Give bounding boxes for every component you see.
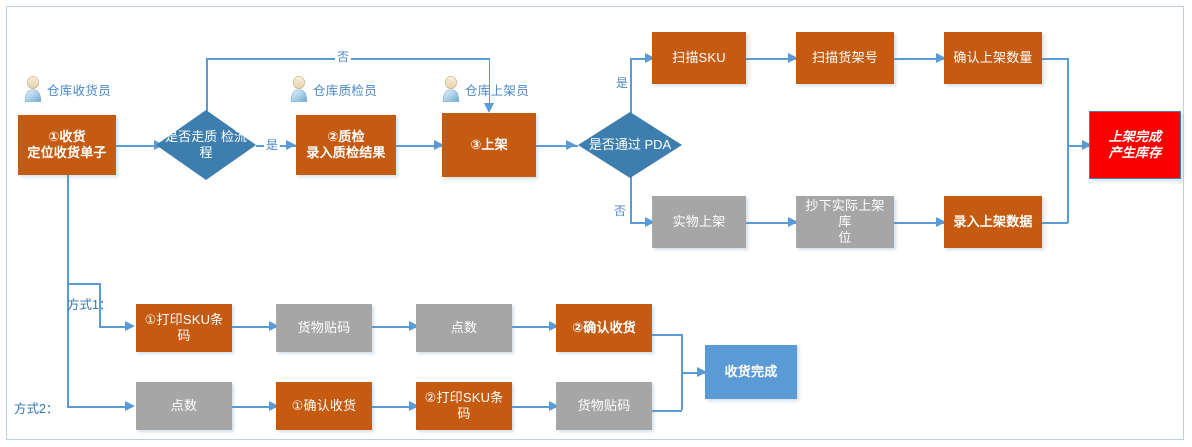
actor-warehouse-shelver: 仓库上架员 (440, 76, 529, 102)
node-copy-location[interactable]: 抄下实际上架库 位 (796, 196, 894, 248)
node-m1-print-sku-label: ①打印SKU条码 (141, 312, 227, 345)
node-scan-sku-label: 扫描SKU (672, 50, 726, 66)
arrowhead (566, 140, 576, 150)
actor-label: 仓库质检员 (313, 80, 377, 99)
node-m1-label-text: 货物贴码 (298, 320, 351, 336)
node-scan-shelf-label: 扫描货架号 (812, 50, 878, 66)
person-icon (22, 76, 44, 102)
edge-label-no-qc: 否 (335, 48, 351, 65)
arrowhead (125, 401, 135, 411)
lane-label-method1: 方式1： (67, 294, 111, 313)
person-icon (440, 76, 462, 102)
node-qc-line1: ②质检 (306, 129, 385, 145)
node-pda-decision-line2: PDA (644, 137, 671, 152)
edge-no-qc-vertical-left (206, 58, 208, 118)
node-m2-print-sku-label: ②打印SKU条码 (421, 390, 507, 423)
arrowhead (286, 140, 296, 150)
edge-m1confirm-to-merge (652, 334, 682, 336)
node-scan-sku[interactable]: 扫描SKU (652, 32, 746, 84)
node-m2-confirm[interactable]: ①确认收货 (276, 382, 372, 430)
node-qc[interactable]: ②质检 录入质检结果 (296, 115, 396, 175)
edge-receive-trunk-vertical (67, 175, 69, 407)
edge-method2-horizontal (67, 406, 132, 408)
node-m2-label[interactable]: 货物贴码 (556, 382, 652, 430)
node-qc-decision[interactable]: 是否走质 检流程 (156, 110, 256, 180)
arrowhead (484, 103, 494, 113)
node-m2-confirm-label: ①确认收货 (292, 398, 357, 414)
node-done-stock-line1: 上架完成 (1109, 129, 1162, 145)
edge-label-yes-qc: 是 (264, 136, 280, 153)
node-enter-data[interactable]: 录入上架数据 (944, 196, 1042, 248)
actor-label: 仓库收货员 (47, 80, 111, 99)
node-m2-label-text: 货物贴码 (578, 398, 631, 414)
node-copy-location-line1: 抄下实际上架库 (801, 198, 889, 231)
node-m1-count-label: 点数 (451, 320, 477, 336)
node-m2-count[interactable]: 点数 (136, 382, 232, 430)
edge-method1-horizontal-a (67, 283, 100, 285)
node-m1-print-sku[interactable]: ①打印SKU条码 (136, 304, 232, 352)
edge-enterdata-to-join (1042, 222, 1068, 224)
person-icon (288, 76, 310, 102)
node-putaway[interactable]: ③上架 (442, 113, 536, 177)
actor-warehouse-inspector: 仓库质检员 (288, 76, 377, 102)
edge-receive-to-qcdecision (116, 145, 156, 147)
node-m1-confirm[interactable]: ②确认收货 (556, 304, 652, 352)
actor-warehouse-receiver: 仓库收货员 (22, 76, 111, 102)
node-physical-putaway[interactable]: 实物上架 (652, 196, 746, 248)
node-copy-location-line2: 位 (801, 230, 889, 246)
node-pda-decision-line1: 是否通过 (589, 137, 641, 152)
node-putaway-label: ③上架 (470, 137, 508, 153)
lane-label-method2: 方式2： (14, 398, 58, 417)
node-m1-count[interactable]: 点数 (416, 304, 512, 352)
node-receive[interactable]: ①收货 定位收货单子 (18, 115, 116, 175)
node-receive-done-label: 收货完成 (725, 364, 778, 380)
node-qc-decision-line1: 是否走质 (165, 129, 217, 144)
node-receive-line2: 定位收货单子 (27, 145, 106, 161)
node-pda-decision[interactable]: 是否通过 PDA (578, 112, 682, 178)
edge-yes-pda-vertical (630, 58, 632, 120)
node-physical-putaway-label: 实物上架 (673, 214, 726, 230)
node-qc-line2: 录入质检结果 (306, 145, 385, 161)
edge-label-yes-pda: 是 (614, 74, 630, 91)
node-m1-label[interactable]: 货物贴码 (276, 304, 372, 352)
node-done-stock[interactable]: 上架完成 产生库存 (1089, 111, 1181, 179)
edge-label-no-pda: 否 (612, 202, 628, 219)
edge-no-pda-vertical (630, 172, 632, 222)
node-m2-print-sku[interactable]: ②打印SKU条码 (416, 382, 512, 430)
edge-join-vertical-bottom (1067, 145, 1069, 223)
node-enter-data-label: 录入上架数据 (953, 214, 1032, 230)
node-receive-done[interactable]: 收货完成 (705, 345, 797, 399)
node-receive-line1: ①收货 (27, 129, 106, 145)
node-confirm-qty-label: 确认上架数量 (953, 50, 1032, 66)
node-scan-shelf[interactable]: 扫描货架号 (796, 32, 894, 84)
actor-label: 仓库上架员 (465, 80, 529, 99)
node-done-stock-line2: 产生库存 (1109, 145, 1162, 161)
flowchart-canvas: 仓库收货员 仓库质检员 仓库上架员 是 否 (0, 0, 1192, 447)
arrowhead (125, 321, 135, 331)
edge-m2label-to-merge (652, 410, 682, 412)
node-m1-confirm-label: ②确认收货 (572, 320, 636, 336)
edge-no-qc-vertical-right (489, 58, 491, 105)
edge-join-vertical-top (1067, 58, 1069, 146)
node-confirm-qty[interactable]: 确认上架数量 (944, 32, 1042, 84)
edge-confirmqty-to-join (1042, 58, 1068, 60)
node-m2-count-label: 点数 (171, 398, 197, 414)
